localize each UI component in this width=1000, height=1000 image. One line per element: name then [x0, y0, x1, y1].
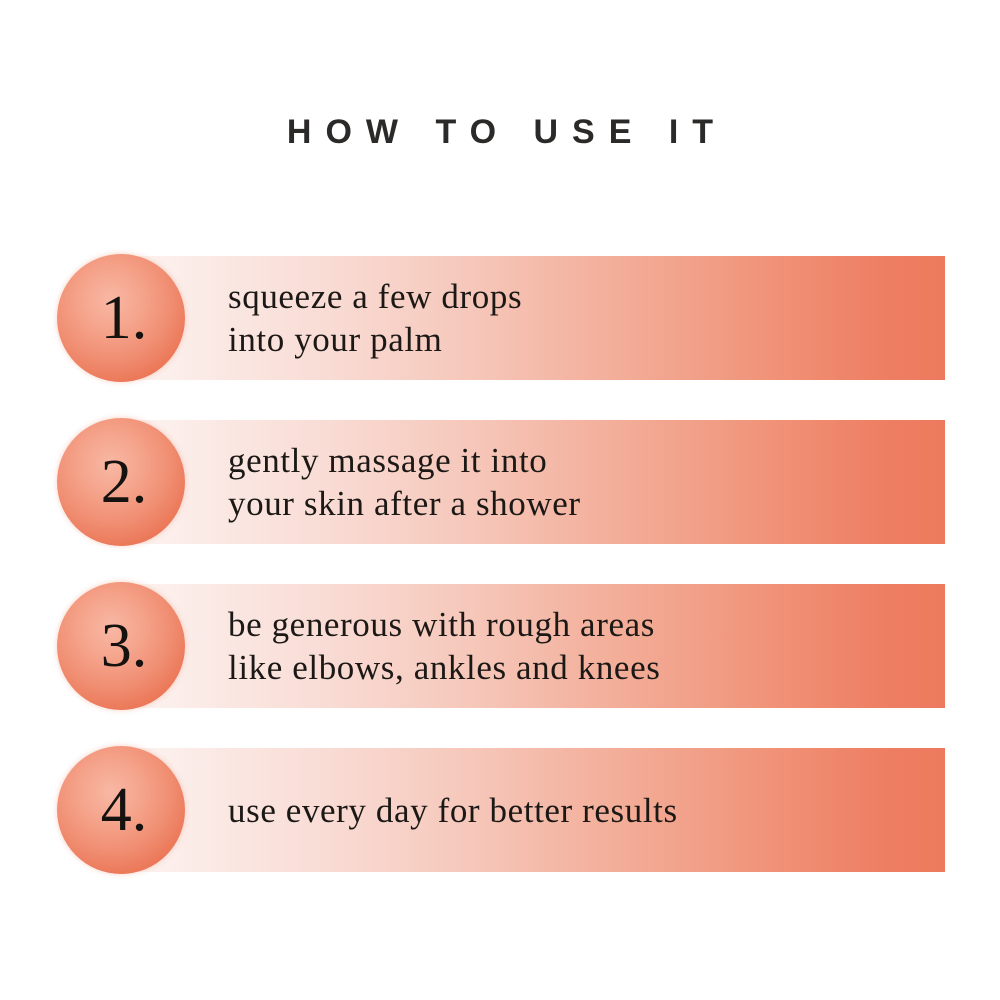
step-item: 3. be generous with rough areas like elb… [0, 584, 1000, 708]
step-item: 2. gently massage it into your skin afte… [0, 420, 1000, 544]
step-text-line: be generous with rough areas [228, 603, 660, 646]
step-number-badge: 2. [57, 418, 185, 546]
step-number-label: 1. [57, 254, 185, 382]
step-text-line: into your palm [228, 318, 522, 361]
step-number-label: 4. [57, 746, 185, 874]
step-number-badge: 4. [57, 746, 185, 874]
step-text-line: your skin after a shower [228, 482, 581, 525]
step-number-badge: 3. [57, 582, 185, 710]
step-item: 4. use every day for better results [0, 748, 1000, 872]
step-text-line: use every day for better results [228, 789, 678, 832]
step-number-badge: 1. [57, 254, 185, 382]
step-number-label: 3. [57, 582, 185, 710]
how-to-use-infographic: HOW TO USE IT 1. squeeze a few drops int… [0, 0, 1000, 1000]
step-text-line: squeeze a few drops [228, 275, 522, 318]
steps-list: 1. squeeze a few drops into your palm 2.… [0, 256, 1000, 872]
step-text-line: gently massage it into [228, 439, 581, 482]
step-text: gently massage it into your skin after a… [228, 420, 581, 544]
step-text: be generous with rough areas like elbows… [228, 584, 660, 708]
step-number-label: 2. [57, 418, 185, 546]
step-text: use every day for better results [228, 748, 678, 872]
page-title: HOW TO USE IT [0, 112, 1000, 152]
step-item: 1. squeeze a few drops into your palm [0, 256, 1000, 380]
step-text-line: like elbows, ankles and knees [228, 646, 660, 689]
step-text: squeeze a few drops into your palm [228, 256, 522, 380]
